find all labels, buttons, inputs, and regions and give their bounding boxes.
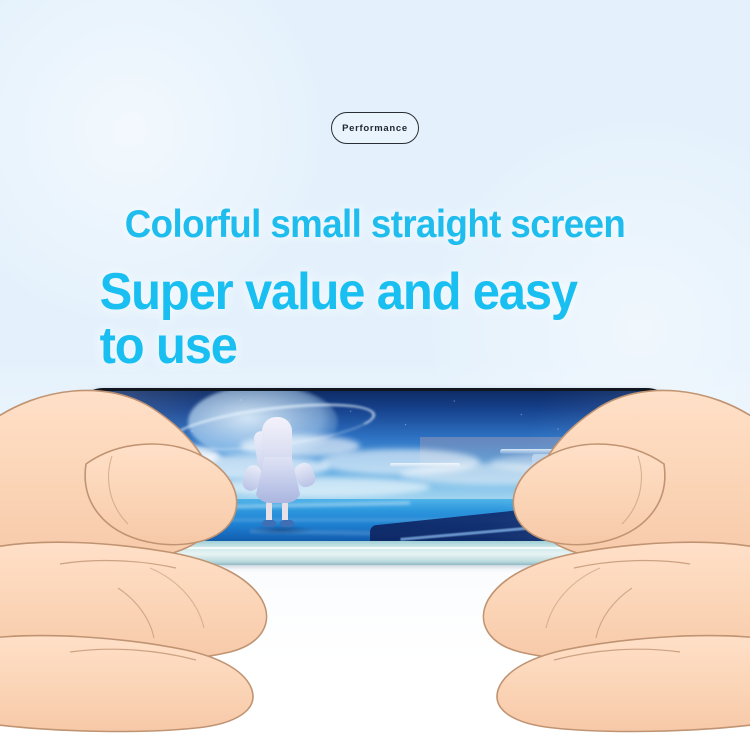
right-hand [483, 390, 750, 731]
headline-block: Colorful small straight screen Super val… [0, 205, 750, 373]
promo-banner: Performance Colorful small straight scre… [0, 0, 750, 750]
hands-illustration [0, 352, 750, 750]
left-hand [0, 390, 267, 731]
performance-badge-label: Performance [342, 123, 408, 134]
headline-primary: Colorful small straight screen [23, 205, 728, 244]
performance-badge: Performance [331, 112, 419, 144]
